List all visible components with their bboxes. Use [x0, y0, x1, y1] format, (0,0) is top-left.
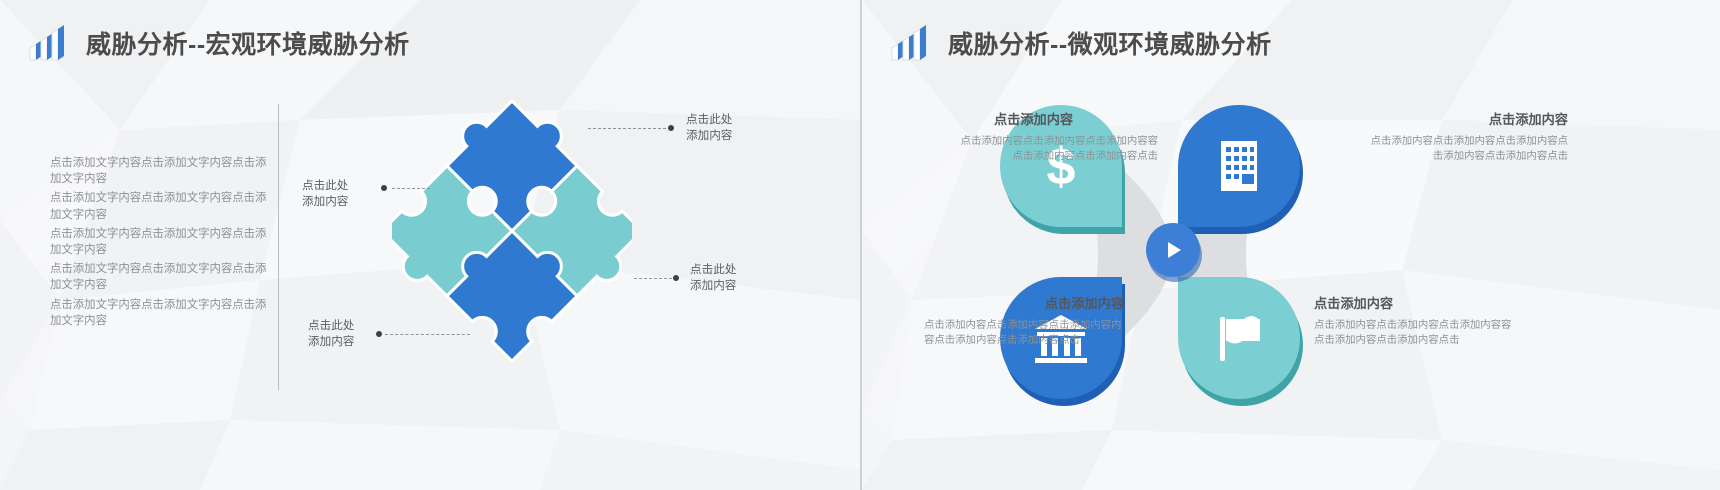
quadrant-heading: 点击添加内容 — [1314, 296, 1520, 312]
callout-line-1: 点击此处 — [308, 318, 354, 334]
leader-line-bottom-left — [385, 334, 470, 335]
quadrant-bottom-right[interactable] — [1178, 277, 1300, 399]
leader-dot-middle-left — [381, 185, 387, 191]
page-title: 威胁分析--宏观环境威胁分析 — [86, 25, 410, 61]
callout-bottom-left: 点击此处 添加内容 — [308, 318, 354, 349]
callout-line-2: 添加内容 — [308, 334, 354, 350]
quadrant-text-top-left: 点击添加内容 点击添加内容点击添加内容点击添加内容容点击添加内容点击添加内容点击 — [952, 112, 1158, 164]
quadrant-body: 点击添加内容点击添加内容点击添加内容容点击添加内容点击添加内容点击 — [952, 134, 1158, 164]
leader-dot-top-right — [668, 125, 674, 131]
callout-line-1: 点击此处 — [302, 178, 348, 194]
callout-line-1: 点击此处 — [686, 112, 732, 128]
callout-middle-right: 点击此处 添加内容 — [690, 262, 736, 293]
leader-dot-middle-right — [673, 275, 679, 281]
bar-chart-icon — [26, 22, 68, 64]
quadrant-body: 点击添加内容点击添加内容点击添加内容容点击添加内容点击添加内容点击 — [1314, 318, 1520, 348]
quadrant-heading: 点击添加内容 — [924, 296, 1130, 312]
slide-micro-threat-analysis: 威胁分析--微观环境威胁分析 $ — [860, 0, 1720, 490]
callout-line-2: 添加内容 — [302, 194, 348, 210]
body-paragraph: 点击添加文字内容点击添加文字内容点击添加文字内容 — [50, 261, 272, 293]
quadrant-body: 点击添加内容点击添加内容点击添加内容内容点击添加内容点击添加内容点击 — [924, 318, 1130, 348]
body-paragraph: 点击添加文字内容点击添加文字内容点击添加文字内容 — [50, 190, 272, 222]
callout-line-2: 添加内容 — [690, 278, 736, 294]
slide-header: 威胁分析--微观环境威胁分析 — [888, 22, 1272, 64]
body-paragraph: 点击添加文字内容点击添加文字内容点击添加文字内容 — [50, 297, 272, 329]
body-paragraph: 点击添加文字内容点击添加文字内容点击添加文字内容 — [50, 226, 272, 258]
leader-line-middle-left — [392, 188, 430, 189]
quadrant-heading: 点击添加内容 — [952, 112, 1158, 128]
play-icon — [1162, 239, 1184, 261]
slide-header: 威胁分析--宏观环境威胁分析 — [26, 22, 410, 64]
callout-top-right: 点击此处 添加内容 — [686, 112, 732, 143]
page-title: 威胁分析--微观环境威胁分析 — [948, 25, 1272, 61]
body-paragraph: 点击添加文字内容点击添加文字内容点击添加文字内容 — [50, 155, 272, 187]
play-button[interactable] — [1146, 223, 1200, 277]
slide-macro-threat-analysis: 威胁分析--宏观环境威胁分析 点击添加文字内容点击添加文字内容点击添加文字内容 … — [0, 0, 860, 490]
macro-body-text: 点击添加文字内容点击添加文字内容点击添加文字内容 点击添加文字内容点击添加文字内… — [50, 155, 272, 332]
leader-dot-bottom-left — [376, 331, 382, 337]
bar-chart-icon — [888, 22, 930, 64]
office-building-icon — [1178, 105, 1300, 227]
flag-icon — [1178, 277, 1300, 399]
slide-deck: 威胁分析--宏观环境威胁分析 点击添加文字内容点击添加文字内容点击添加文字内容 … — [0, 0, 1720, 490]
quadrant-text-bottom-left: 点击添加内容 点击添加内容点击添加内容点击添加内容内容点击添加内容点击添加内容点… — [924, 296, 1130, 348]
callout-line-1: 点击此处 — [690, 262, 736, 278]
quadrant-top-right[interactable] — [1178, 105, 1300, 227]
play-body — [1146, 223, 1200, 277]
vertical-divider — [278, 104, 279, 390]
puzzle-diagram — [392, 100, 632, 360]
quadrant-body: 点击添加内容点击添加内容点击添加内容点击添加内容点击添加内容点击 — [1362, 134, 1568, 164]
callout-line-2: 添加内容 — [686, 128, 732, 144]
leader-line-top-right — [588, 128, 666, 129]
quadrant-text-bottom-right: 点击添加内容 点击添加内容点击添加内容点击添加内容容点击添加内容点击添加内容点击 — [1314, 296, 1520, 348]
quadrant-text-top-right: 点击添加内容 点击添加内容点击添加内容点击添加内容点击添加内容点击添加内容点击 — [1362, 112, 1568, 164]
leader-line-middle-right — [634, 278, 672, 279]
callout-middle-left: 点击此处 添加内容 — [302, 178, 348, 209]
quadrant-heading: 点击添加内容 — [1362, 112, 1568, 128]
